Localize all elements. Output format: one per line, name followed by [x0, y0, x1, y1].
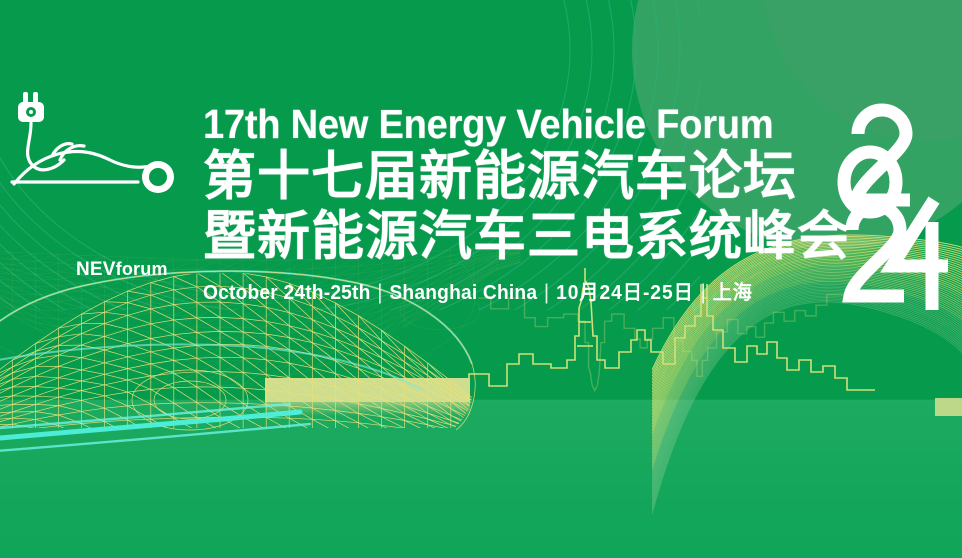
logo-text-forum: forum — [116, 259, 168, 279]
nevforum-logo[interactable]: NEVforum — [6, 78, 186, 208]
event-poster: NEVforum 17th New Energy Vehicle Forum 第… — [0, 0, 962, 558]
subtitle-separator-1: | — [371, 281, 390, 304]
subtitle-separator-3: | — [694, 281, 713, 304]
subtitle-date-location: October 24th-25th|Shanghai China|10月24日-… — [203, 276, 827, 305]
accent-bar-right — [935, 398, 962, 416]
logo-text-nev: NEV — [76, 259, 116, 280]
subtitle-date-cn: 10月24日-25日 — [556, 282, 694, 304]
title-chinese-line-1: 第十七届新能源汽车论坛 — [203, 150, 853, 204]
logo-wordmark: NEVforum — [76, 259, 168, 281]
title-chinese-line-2: 暨新能源汽车三电系统峰会 — [203, 210, 853, 264]
subtitle-location-en: Shanghai China — [389, 282, 537, 304]
subtitle-location-cn: 上海 — [713, 282, 753, 304]
title-english: 17th New Energy Vehicle Forum — [203, 104, 808, 145]
year-2024-graphic — [838, 104, 962, 316]
charging-plug-icon — [18, 92, 44, 122]
subtitle-date-en: October 24th-25th — [203, 282, 371, 304]
headline-block: 17th New Energy Vehicle Forum 第十七届新能源汽车论… — [203, 104, 853, 305]
subtitle-separator-2: | — [537, 281, 556, 304]
